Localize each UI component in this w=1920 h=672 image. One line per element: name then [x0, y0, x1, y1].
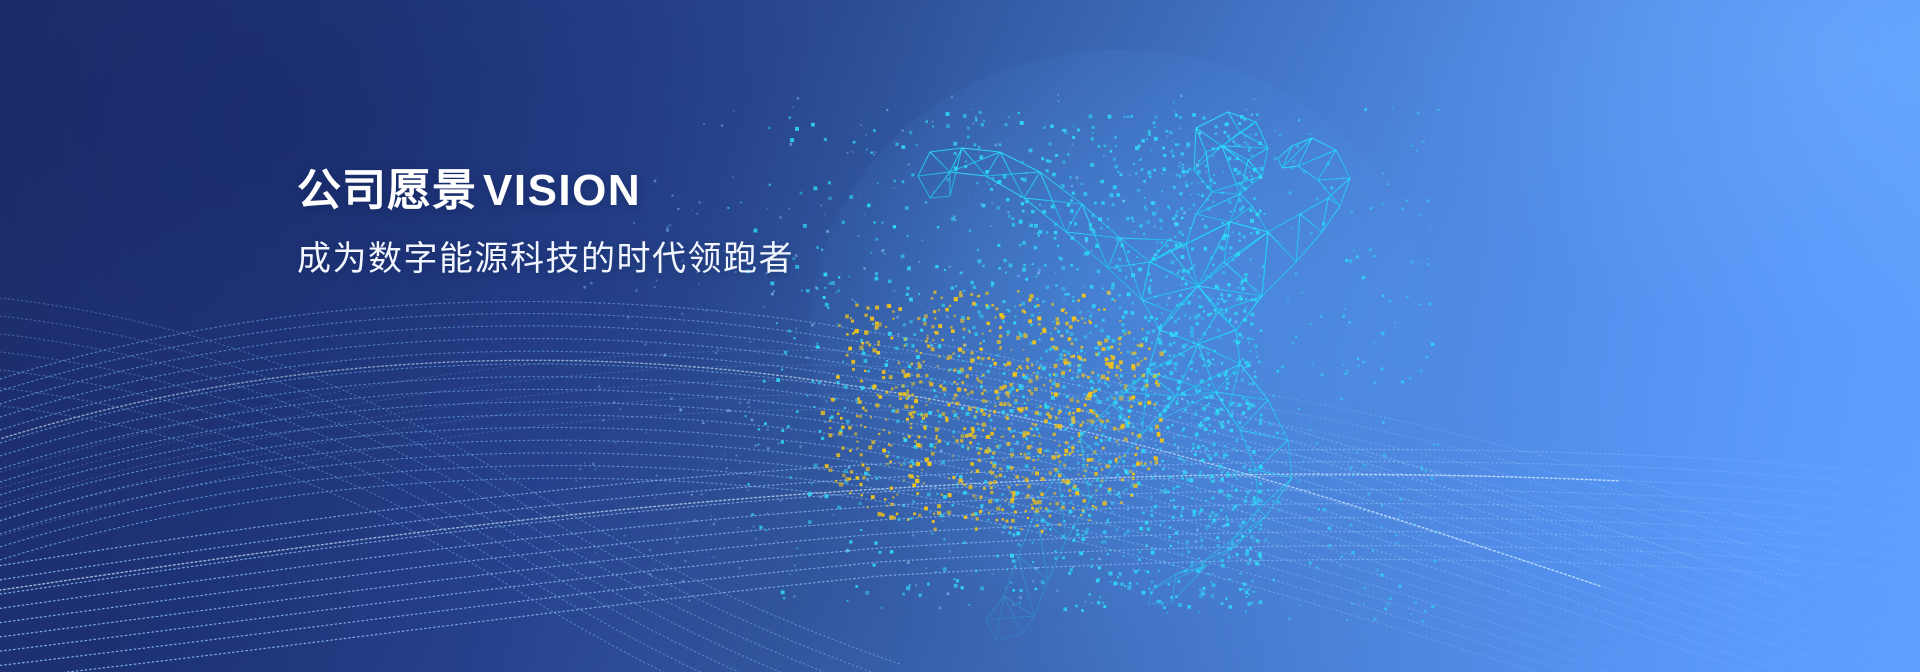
- vision-text-block: 公司愿景VISION 成为数字能源科技的时代领跑者: [297, 166, 794, 280]
- page-subtitle: 成为数字能源科技的时代领跑者: [297, 239, 794, 280]
- title-english: VISION: [483, 166, 641, 215]
- running-man-wireframe: [0, 0, 1920, 672]
- dispersing-particles: [0, 0, 1920, 672]
- vision-banner: 公司愿景VISION 成为数字能源科技的时代领跑者: [0, 0, 1920, 672]
- page-title: 公司愿景VISION: [297, 166, 794, 215]
- background-vignette: [0, 0, 1920, 672]
- dotted-wave-lines: [0, 0, 1920, 672]
- title-chinese: 公司愿景: [297, 166, 477, 215]
- background-glow: [0, 0, 1920, 672]
